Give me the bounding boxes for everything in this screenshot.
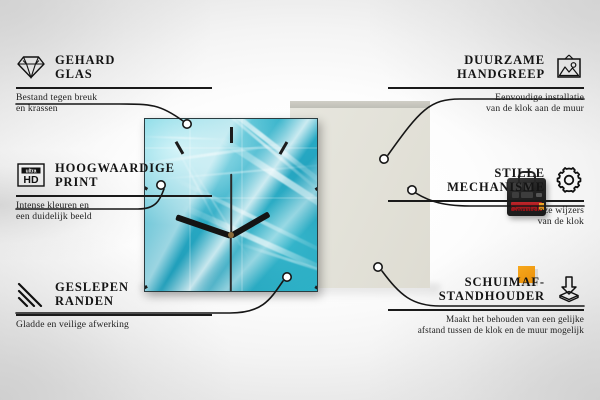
feature-header: GEHARD GLAS — [16, 50, 212, 84]
feature-description: Maakt het behouden van een gelijke afsta… — [388, 314, 584, 337]
feature-divider — [16, 314, 212, 316]
clock-second-hand-tail — [230, 174, 232, 236]
feature-description-line: een duidelijk beeld — [16, 211, 212, 222]
feature-description: Intense kleuren en een duidelijk beeld — [16, 200, 212, 223]
feature-title: GESLEPEN RANDEN — [55, 280, 129, 308]
feature-title: DUURZAME HANDGREEP — [457, 53, 545, 81]
feature-title: GEHARD GLAS — [55, 53, 115, 81]
svg-text:HD: HD — [23, 174, 39, 186]
feature-description-line: van de klok — [388, 216, 584, 227]
feature-description-line: Bestand tegen breuk — [16, 92, 212, 103]
feature-title: SCHUIMAF- STANDHOUDER — [439, 275, 545, 303]
feature-geslepen-randen: GESLEPEN RANDEN Gladde en veilige afwerk… — [16, 277, 212, 330]
feature-description-line: en krassen — [16, 103, 212, 114]
feature-header: SCHUIMAF- STANDHOUDER — [388, 272, 584, 306]
feature-gehard-glas: GEHARD GLAS Bestand tegen breuk en krass… — [16, 50, 212, 114]
feature-description-line: Intense kleuren en — [16, 200, 212, 211]
clock-tick — [315, 285, 318, 292]
press-down-icon — [554, 274, 584, 304]
feature-description-line: van de klok aan de muur — [388, 103, 584, 114]
feature-description-line: Geruisloze wijzers — [388, 205, 584, 216]
clock-second-hand — [230, 236, 232, 292]
feature-description-line: Gladde en veilige afwerking — [16, 319, 212, 330]
feature-duurzame-handgreep: DUURZAME HANDGREEP Eenvoudige installati… — [388, 50, 584, 114]
diamond-icon — [16, 52, 46, 82]
feature-description-line: Eenvoudige installatie — [388, 92, 584, 103]
feature-title: HOOGWAARDIGE PRINT — [55, 161, 175, 189]
feature-stille-mechanisme: STILLE MECHANISME Geruisloze wijzers van… — [388, 163, 584, 227]
gear-icon — [554, 165, 584, 195]
feature-description: Eenvoudige installatie van de klok aan d… — [388, 92, 584, 115]
feature-description: Gladde en veilige afwerking — [16, 319, 212, 330]
feature-divider — [16, 195, 212, 197]
infographic-canvas: GEHARD GLAS Bestand tegen breuk en krass… — [0, 0, 600, 400]
feature-divider — [388, 87, 584, 89]
clock-center-pivot — [228, 232, 234, 238]
feature-description: Geruisloze wijzers van de klok — [388, 205, 584, 228]
picture-frame-icon — [554, 52, 584, 82]
feature-header: GESLEPEN RANDEN — [16, 277, 212, 311]
feature-header: DUURZAME HANDGREEP — [388, 50, 584, 84]
clock-tick — [230, 127, 233, 143]
ultra-hd-icon: ultra HD — [16, 160, 46, 190]
feature-description-line: Maakt het behouden van een gelijke — [388, 314, 584, 325]
feature-header: ultra HD HOOGWAARDIGE PRINT — [16, 158, 212, 192]
beveled-edges-icon — [16, 279, 46, 309]
feature-hoogwaardige-print: ultra HD HOOGWAARDIGE PRINT Intense kleu… — [16, 158, 212, 222]
feature-divider — [388, 309, 584, 311]
feature-divider — [388, 200, 584, 202]
feature-description-line: afstand tussen de klok en de muur mogeli… — [388, 325, 584, 336]
feature-divider — [16, 87, 212, 89]
feature-schuimafstandhouder: SCHUIMAF- STANDHOUDER Maakt het behouden… — [388, 272, 584, 336]
feature-header: STILLE MECHANISME — [388, 163, 584, 197]
feature-description: Bestand tegen breuk en krassen — [16, 92, 212, 115]
feature-title: STILLE MECHANISME — [447, 166, 545, 194]
